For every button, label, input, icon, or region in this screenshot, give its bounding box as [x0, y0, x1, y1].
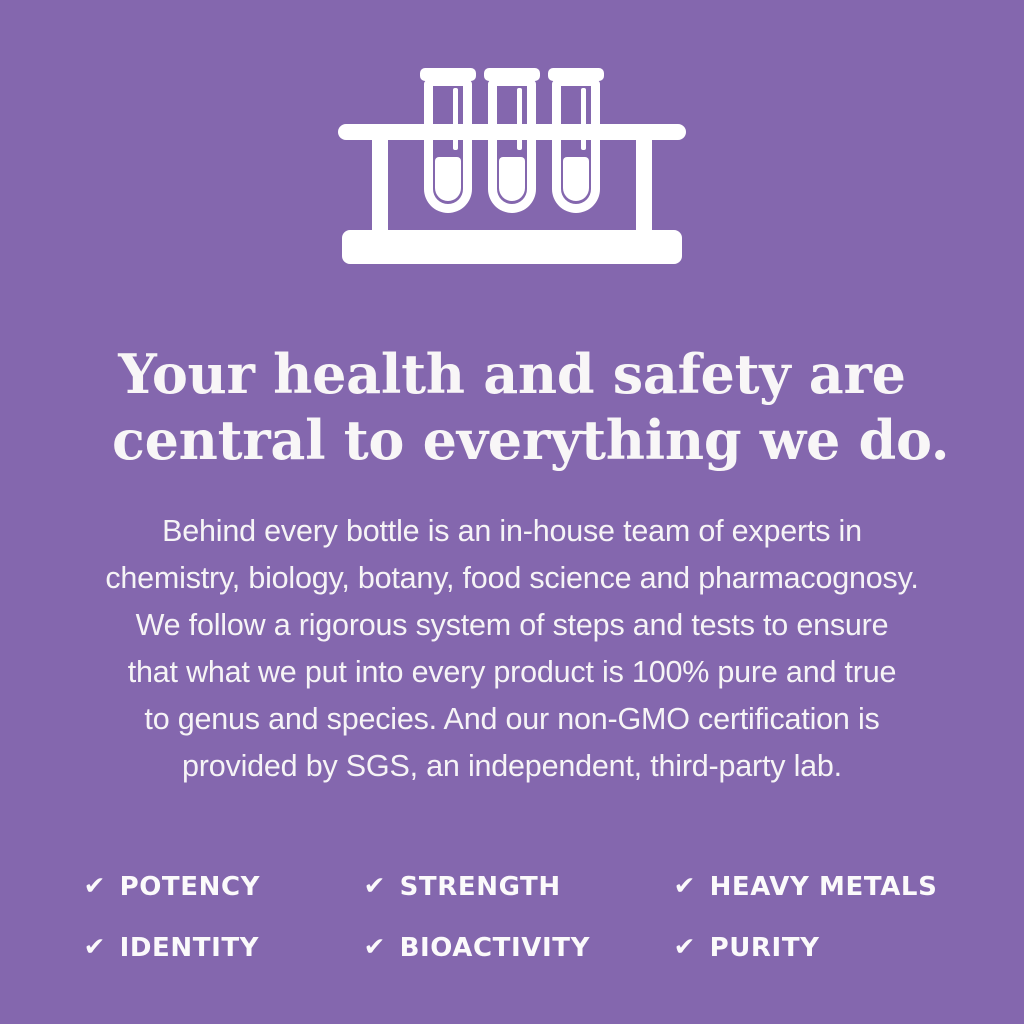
checklist-item-label: HEAVY METALS [710, 872, 938, 902]
body-paragraph: Behind every bottle is an in-house team … [72, 508, 952, 790]
body-line-4: that what we put into every product is 1… [72, 649, 952, 696]
checklist-item-purity: ✔ PURITY [674, 917, 964, 978]
body-line-1: Behind every bottle is an in-house team … [72, 508, 952, 555]
checklist-item-identity: ✔ IDENTITY [84, 917, 364, 978]
checklist-item-potency: ✔ POTENCY [84, 856, 364, 917]
checklist-item-strength: ✔ STRENGTH [364, 856, 674, 917]
headline-line-1: Your health and safety are [112, 340, 912, 408]
checklist-item-label: IDENTITY [120, 933, 260, 963]
checklist-item-bioactivity: ✔ BIOACTIVITY [364, 917, 674, 978]
body-line-5: to genus and species. And our non-GMO ce… [72, 696, 952, 743]
check-icon: ✔ [363, 934, 386, 959]
body-line-2: chemistry, biology, botany, food science… [72, 555, 952, 602]
check-icon: ✔ [673, 934, 696, 959]
checklist-item-label: POTENCY [120, 872, 261, 902]
checklist-item-heavy-metals: ✔ HEAVY METALS [674, 856, 964, 917]
body-line-3: We follow a rigorous system of steps and… [72, 602, 952, 649]
page-title: Your health and safety are central to ev… [112, 340, 912, 474]
check-icon: ✔ [83, 873, 106, 898]
checklist-item-label: BIOACTIVITY [400, 933, 590, 963]
quality-promise-card: Your health and safety are central to ev… [0, 0, 1024, 1024]
headline-line-2: central to everything we do. [112, 406, 912, 474]
test-tube-rack-icon [332, 64, 692, 268]
check-icon: ✔ [673, 873, 696, 898]
body-line-6: provided by SGS, an independent, third-p… [72, 743, 952, 790]
check-icon: ✔ [83, 934, 106, 959]
check-icon: ✔ [363, 873, 386, 898]
quality-checklist: ✔ POTENCY ✔ STRENGTH ✔ HEAVY METALS ✔ ID… [72, 856, 952, 978]
checklist-item-label: STRENGTH [400, 872, 561, 902]
checklist-item-label: PURITY [710, 933, 820, 963]
